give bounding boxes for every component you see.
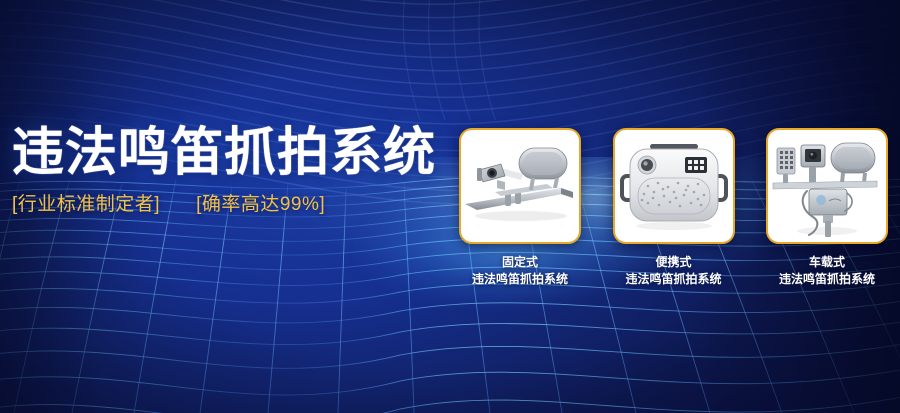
subtitle-row: [行业标准制定者] [确率高达99%]: [12, 189, 436, 216]
product-type-label: 便携式: [625, 254, 721, 271]
promo-banner: 违法鸣笛抓拍系统 [行业标准制定者] [确率高达99%]: [0, 0, 900, 413]
badge-industry-standard: [行业标准制定者]: [12, 189, 160, 216]
product-card-list: 固定式 违法鸣笛抓拍系统: [455, 128, 892, 288]
product-type-label: 固定式: [472, 254, 568, 271]
product-caption: 固定式 违法鸣笛抓拍系统: [472, 254, 568, 288]
badge-accuracy: [确率高达99%]: [196, 189, 325, 216]
product-caption: 便携式 违法鸣笛抓拍系统: [625, 254, 721, 288]
product-type-label: 车载式: [779, 254, 875, 271]
headline-block: 违法鸣笛抓拍系统 [行业标准制定者] [确率高达99%]: [12, 126, 436, 216]
product-card-vehicle[interactable]: 车载式 违法鸣笛抓拍系统: [762, 128, 892, 288]
vehicle-mounted-acoustic-unit-icon: [769, 131, 885, 241]
product-system-label: 违法鸣笛抓拍系统: [472, 271, 568, 288]
page-title: 违法鸣笛抓拍系统: [12, 126, 436, 180]
product-image-frame[interactable]: [459, 128, 581, 244]
product-system-label: 违法鸣笛抓拍系统: [625, 271, 721, 288]
portable-acoustic-array-box-icon: [618, 134, 730, 238]
product-card-portable[interactable]: 便携式 违法鸣笛抓拍系统: [609, 128, 739, 288]
product-image-frame[interactable]: [766, 128, 888, 244]
product-image-frame[interactable]: [613, 128, 735, 244]
product-caption: 车载式 违法鸣笛抓拍系统: [779, 254, 875, 288]
fixed-mount-acoustic-camera-icon: [461, 130, 579, 242]
product-system-label: 违法鸣笛抓拍系统: [779, 271, 875, 288]
product-card-fixed[interactable]: 固定式 违法鸣笛抓拍系统: [455, 128, 585, 288]
